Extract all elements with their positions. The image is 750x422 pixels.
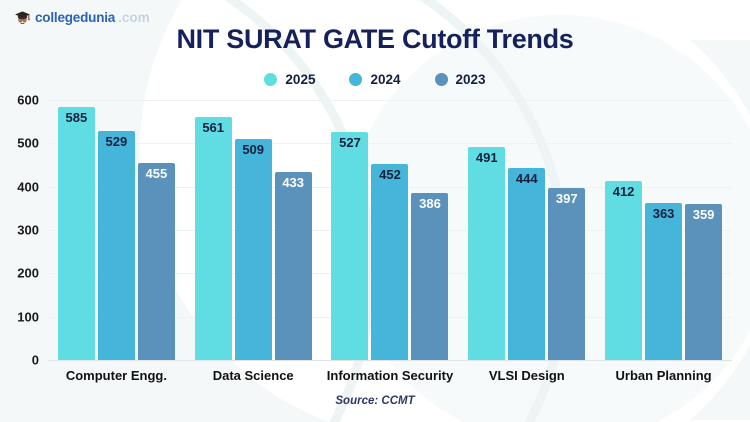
y-axis-tick-600: 600 — [17, 93, 39, 108]
bar-2023[interactable]: 433 — [275, 172, 312, 360]
page-title: NIT SURAT GATE Cutoff Trends — [0, 24, 750, 55]
y-axis-tick-100: 100 — [17, 309, 39, 324]
bar-2025[interactable]: 491 — [468, 147, 505, 360]
y-axis-tick-0: 0 — [32, 353, 39, 368]
bar-group: 585529455Computer Engg. — [48, 100, 185, 360]
bar-group: 527452386Information Security — [322, 100, 459, 360]
bar-2024[interactable]: 529 — [98, 131, 135, 360]
bar-2025[interactable]: 585 — [58, 107, 95, 361]
bar-2025[interactable]: 527 — [331, 132, 368, 360]
bar-value-label: 452 — [371, 168, 408, 181]
legend-label-2025: 2025 — [285, 72, 315, 87]
chart-canvas: collegedunia .com NIT SURAT GATE Cutoff … — [0, 0, 750, 422]
legend-item-2025[interactable]: 2025 — [264, 72, 315, 87]
bar-value-label: 561 — [195, 121, 232, 134]
logo-tld: .com — [118, 11, 150, 25]
bar-value-label: 386 — [411, 197, 448, 210]
bar-value-label: 363 — [645, 207, 682, 220]
y-axis-tick-300: 300 — [17, 223, 39, 238]
bar-2023[interactable]: 359 — [685, 204, 722, 360]
bar-group: 491444397VLSI Design — [458, 100, 595, 360]
bar-2025[interactable]: 561 — [195, 117, 232, 360]
bar-value-label: 491 — [468, 151, 505, 164]
legend-item-2023[interactable]: 2023 — [435, 72, 486, 87]
bar-value-label: 444 — [508, 172, 545, 185]
bar-2023[interactable]: 455 — [138, 163, 175, 360]
bar-value-label: 433 — [275, 176, 312, 189]
bar-group: 561509433Data Science — [185, 100, 322, 360]
bar-value-label: 455 — [138, 167, 175, 180]
legend-label-2023: 2023 — [456, 72, 486, 87]
bar-2024[interactable]: 363 — [645, 203, 682, 360]
legend-item-2024[interactable]: 2024 — [349, 72, 400, 87]
y-axis-tick-400: 400 — [17, 179, 39, 194]
y-axis-tick-200: 200 — [17, 266, 39, 281]
bar-2023[interactable]: 386 — [411, 193, 448, 360]
plot-area: 0100200300400500600 585529455Computer En… — [48, 100, 732, 360]
bar-value-label: 529 — [98, 135, 135, 148]
gridline-0 — [48, 360, 732, 361]
bar-value-label: 397 — [548, 192, 585, 205]
x-axis-category-label: Urban Planning — [583, 368, 744, 383]
bar-2025[interactable]: 412 — [605, 181, 642, 360]
bar-2024[interactable]: 452 — [371, 164, 408, 360]
legend-swatch-2025 — [264, 73, 277, 86]
bar-value-label: 585 — [58, 111, 95, 124]
bar-2024[interactable]: 444 — [508, 168, 545, 360]
source-note: Source: CCMT — [0, 395, 750, 407]
logo-wordmark: collegedunia — [35, 11, 115, 25]
bar-groups: 585529455Computer Engg.561509433Data Sci… — [48, 100, 732, 360]
bar-2023[interactable]: 397 — [548, 188, 585, 360]
bar-value-label: 527 — [331, 136, 368, 149]
chart-legend: 2025 2024 2023 — [0, 72, 750, 87]
legend-swatch-2024 — [349, 73, 362, 86]
bar-value-label: 412 — [605, 185, 642, 198]
legend-label-2024: 2024 — [370, 72, 400, 87]
bar-value-label: 359 — [685, 208, 722, 221]
y-axis-tick-500: 500 — [17, 136, 39, 151]
bar-2024[interactable]: 509 — [235, 139, 272, 360]
bar-value-label: 509 — [235, 143, 272, 156]
legend-swatch-2023 — [435, 73, 448, 86]
bar-group: 412363359Urban Planning — [595, 100, 732, 360]
